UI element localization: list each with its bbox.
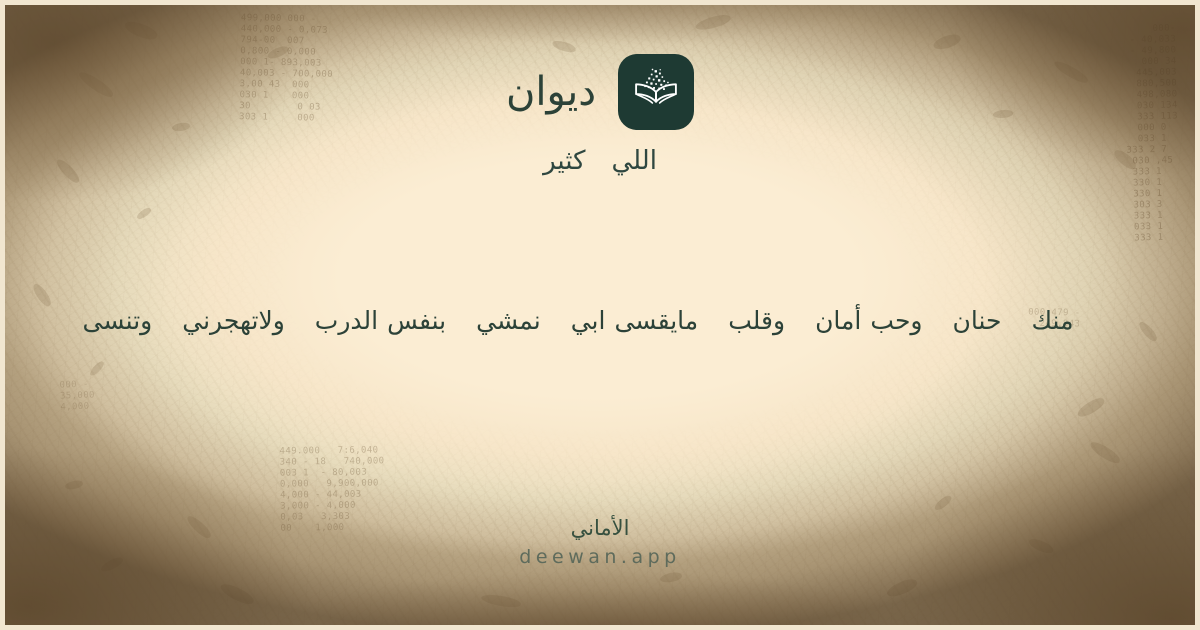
verse-group: مايقسى ابي: [571, 306, 699, 335]
verse-line: منك حنان وحب أمان وقلب مايقسى ابي نمشي: [83, 306, 1074, 335]
verse-group: وقلب: [728, 306, 785, 335]
app-logo: [618, 54, 694, 130]
site-url: deewan.app: [519, 546, 680, 568]
verse-group: حنان: [952, 306, 1001, 335]
verse-word: نمشي: [476, 306, 541, 335]
app-name: ديوان: [506, 72, 596, 112]
verse-word: أمان: [815, 306, 861, 335]
verse-word: حنان: [952, 306, 1001, 335]
verse-group: ولاتهجرني: [182, 306, 285, 335]
verse-word: ولاتهجرني: [182, 306, 285, 335]
brand-header: ديوان: [506, 54, 694, 130]
verse-word: وتنسى: [83, 306, 153, 335]
verse-group: منك: [1031, 306, 1073, 335]
verse-word: وقلب: [728, 306, 785, 335]
poem-title: اللي كثير: [543, 146, 657, 176]
poet-name: الأماني: [571, 516, 630, 540]
open-book-sparkles-icon: [630, 66, 682, 118]
verse-group: وتنسى: [83, 306, 153, 335]
verse-word: منك: [1031, 306, 1073, 335]
verse-word: وحب: [870, 306, 922, 335]
verse-group: وحب أمان: [815, 306, 922, 335]
verse-group: بنفس الدرب: [315, 306, 446, 335]
verse-word: مايقسى: [614, 306, 698, 335]
verse-group: نمشي: [476, 306, 541, 335]
poem-title-word: كثير: [543, 146, 585, 176]
share-card: -000 40,033 - 49,800 - 34 000 445,003 88…: [0, 0, 1200, 630]
card-footer: الأماني deewan.app: [0, 516, 1200, 568]
poem-title-word: اللي: [612, 146, 657, 176]
verse-word: الدرب: [315, 306, 378, 335]
verse-container: منك حنان وحب أمان وقلب مايقسى ابي نمشي: [0, 306, 1200, 335]
verse-word: ابي: [571, 306, 606, 335]
verse-word: بنفس: [387, 306, 446, 335]
